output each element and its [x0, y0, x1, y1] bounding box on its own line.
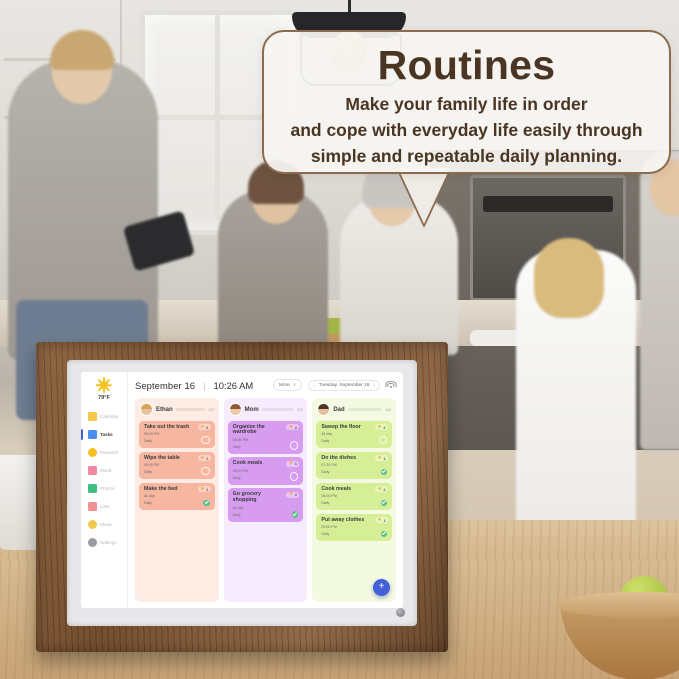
task-checked-icon[interactable] [381, 469, 388, 476]
task-time: All day [321, 432, 387, 437]
avatar[interactable] [229, 403, 242, 416]
task-checked-icon[interactable] [381, 531, 388, 538]
task-time: 05:00 PM [233, 438, 299, 443]
points-badge: ★1 [286, 461, 299, 467]
task-time: All day [144, 494, 210, 499]
add-task-button[interactable]: + [373, 579, 390, 596]
star-icon: ★ [377, 425, 381, 430]
tasks-board: Ethan1/3Take out the trash05:00 PMDaily★… [128, 398, 403, 608]
sidebar-item-label: Calendar [100, 414, 119, 419]
column-header: Ethan1/3 [139, 403, 215, 417]
main-panel: September 16 | 10:26 AM More ∨ ‹ Tuesday… [128, 372, 403, 608]
header-time: 10:26 AM [214, 380, 254, 391]
sidebar-item-label: Lists [100, 504, 109, 509]
more-label: More [279, 383, 290, 388]
promo-subhead-line-2: and cope with everyday life easily throu… [264, 115, 669, 141]
task-checkbox[interactable] [379, 436, 388, 445]
tasks-icon [88, 430, 97, 439]
task-card[interactable]: Put away clothes09:00 PMDaily★1 [316, 514, 392, 542]
task-repeat: Daily [321, 470, 387, 475]
avatar[interactable] [140, 403, 153, 416]
avatar[interactable] [317, 403, 330, 416]
sidebar-item-label: Settings [100, 540, 117, 545]
wifi-icon [386, 381, 395, 389]
progress-label: 3/4 [385, 407, 391, 412]
weather-widget: 79°F [96, 377, 112, 401]
header-separator: | [203, 380, 205, 391]
header-date: September 16 [135, 380, 195, 391]
task-repeat: Daily [233, 513, 299, 518]
sidebar-item-mood[interactable]: Mood [81, 462, 127, 479]
task-repeat: Daily [233, 476, 299, 481]
column-header: Dad3/4 [316, 403, 392, 417]
member-name: Ethan [156, 407, 173, 413]
promo-subhead-line-3: simple and repeatable daily planning. [264, 141, 669, 167]
column-header: Mom1/3 [228, 403, 304, 417]
task-repeat: Daily [321, 439, 387, 444]
task-card[interactable]: Cook meals06:00 PMDaily★2 [316, 483, 392, 511]
sidebar-item-label: Photos [100, 486, 114, 491]
photos-icon [88, 484, 97, 493]
points-value: 2 [295, 492, 297, 497]
points-value: 2 [206, 425, 208, 430]
star-icon: ★ [377, 487, 381, 492]
points-value: 1 [383, 456, 385, 461]
task-time: 09:00 PM [321, 525, 387, 530]
task-checkbox[interactable] [201, 436, 210, 445]
screenshot-root: Routines Make your family life in order … [0, 0, 679, 679]
progress-bar [348, 408, 383, 411]
sidebar: 79°F CalendarTasksRewardsMoodPhotosLists… [81, 372, 128, 608]
points-value: 2 [383, 425, 385, 430]
speech-bubble-tail [398, 168, 450, 224]
progress-label: 1/3 [297, 407, 303, 412]
calendar-icon [88, 412, 97, 421]
points-value: 1 [383, 518, 385, 523]
sidebar-item-label: Mood [100, 468, 112, 473]
points-value: 1 [295, 461, 297, 466]
sidebar-item-photos[interactable]: Photos [81, 480, 127, 497]
task-card[interactable]: Wipe the table05:00 PMDaily★1 [139, 452, 215, 480]
sidebar-item-rewards[interactable]: Rewards [81, 444, 127, 461]
sidebar-item-settings[interactable]: Settings [81, 534, 127, 551]
points-badge: ★1 [198, 486, 211, 492]
member-name: Mom [245, 407, 259, 413]
task-repeat: Daily [144, 470, 210, 475]
points-badge: ★1 [375, 455, 388, 461]
date-navigator[interactable]: ‹ Tuesday, September 16 › [308, 380, 380, 391]
star-icon [88, 448, 97, 457]
star-icon: ★ [377, 456, 381, 461]
sidebar-item-lists[interactable]: Lists [81, 498, 127, 515]
task-repeat: Daily [144, 501, 210, 506]
chevron-left-icon[interactable]: ‹ [313, 383, 315, 388]
camera-icon [396, 608, 405, 617]
points-badge: ★2 [198, 424, 211, 430]
member-name: Dad [333, 407, 344, 413]
task-card[interactable]: Make the bedAll dayDaily★1 [139, 483, 215, 511]
sidebar-nav: CalendarTasksRewardsMoodPhotosListsSleep… [81, 408, 127, 551]
task-checked-icon[interactable] [203, 500, 210, 507]
progress-bar [262, 408, 294, 411]
progress-bar [176, 408, 205, 411]
points-value: 2 [383, 487, 385, 492]
task-column-mom: Mom1/3Organize the wardrobe05:00 PMDaily… [224, 398, 308, 602]
task-time: 06:00 PM [321, 494, 387, 499]
sidebar-item-sleep[interactable]: Sleep [81, 516, 127, 533]
promo-headline: Routines [264, 32, 669, 89]
star-icon: ★ [200, 456, 204, 461]
task-repeat: Daily [233, 445, 299, 450]
task-card[interactable]: Cook meals06:00 PMDaily★1 [228, 457, 304, 485]
task-card[interactable]: Take out the trash05:00 PMDaily★2 [139, 421, 215, 449]
tablet-screen: 79°F CalendarTasksRewardsMoodPhotosLists… [81, 372, 403, 608]
lists-icon [88, 502, 97, 511]
chevron-down-icon: ∨ [293, 382, 296, 388]
task-card[interactable]: Go grocery shoppingAll dayDaily★2 [228, 488, 304, 521]
tablet-bezel: 79°F CalendarTasksRewardsMoodPhotosLists… [67, 360, 417, 626]
points-badge: ★2 [286, 492, 299, 498]
task-column-ethan: Ethan1/3Take out the trash05:00 PMDaily★… [135, 398, 219, 602]
sidebar-item-label: Rewards [100, 450, 118, 455]
points-badge: ★2 [375, 486, 388, 492]
sidebar-item-label: Tasks [100, 432, 113, 437]
sun-icon [96, 377, 112, 393]
task-time: All day [233, 506, 299, 511]
task-time: 06:00 PM [233, 469, 299, 474]
task-card[interactable]: Do the dishes07:30 PMDaily★1 [316, 452, 392, 480]
points-value: 1 [206, 456, 208, 461]
chevron-right-icon[interactable]: › [373, 383, 375, 388]
task-time: 05:00 PM [144, 432, 210, 437]
task-repeat: Daily [321, 532, 387, 537]
more-button[interactable]: More ∨ [273, 379, 302, 391]
progress-label: 1/3 [208, 407, 214, 412]
tablet-wooden-frame: 79°F CalendarTasksRewardsMoodPhotosLists… [36, 342, 448, 652]
task-checked-icon[interactable] [381, 500, 388, 507]
task-time: 05:00 PM [144, 463, 210, 468]
top-bar: September 16 | 10:26 AM More ∨ ‹ Tuesday… [128, 372, 403, 398]
task-checked-icon[interactable] [292, 511, 299, 518]
task-time: 07:30 PM [321, 463, 387, 468]
points-badge: ★1 [198, 455, 211, 461]
moon-icon [88, 520, 97, 529]
points-value: 2 [295, 425, 297, 430]
task-checkbox[interactable] [290, 441, 299, 450]
promo-subhead-line-1: Make your family life in order [264, 89, 669, 115]
points-badge: ★1 [375, 517, 388, 523]
points-value: 1 [206, 487, 208, 492]
plus-icon: + [379, 582, 385, 592]
task-repeat: Daily [144, 439, 210, 444]
promo-speech-bubble: Routines Make your family life in order … [262, 30, 671, 174]
mood-icon [88, 466, 97, 475]
star-icon: ★ [377, 518, 381, 523]
selected-date-label: Tuesday, September 16 [319, 383, 370, 388]
temperature-value: 79°F [98, 395, 110, 401]
task-repeat: Daily [321, 501, 387, 506]
star-icon: ★ [200, 425, 204, 430]
points-badge: ★2 [375, 424, 388, 430]
task-card[interactable]: Organize the wardrobe05:00 PMDaily★2 [228, 421, 304, 454]
gear-icon [88, 538, 97, 547]
task-checkbox[interactable] [201, 467, 210, 476]
star-icon: ★ [289, 425, 293, 430]
star-icon: ★ [200, 487, 204, 492]
task-card[interactable]: Sweep the floorAll dayDaily★2 [316, 421, 392, 449]
task-checkbox[interactable] [290, 472, 299, 481]
task-column-dad: Dad3/4Sweep the floorAll dayDaily★2Do th… [312, 398, 396, 602]
star-icon: ★ [289, 492, 293, 497]
star-icon: ★ [289, 461, 293, 466]
sidebar-item-tasks[interactable]: Tasks [81, 426, 127, 443]
sidebar-item-label: Sleep [100, 522, 112, 527]
points-badge: ★2 [286, 424, 299, 430]
sidebar-item-calendar[interactable]: Calendar [81, 408, 127, 425]
